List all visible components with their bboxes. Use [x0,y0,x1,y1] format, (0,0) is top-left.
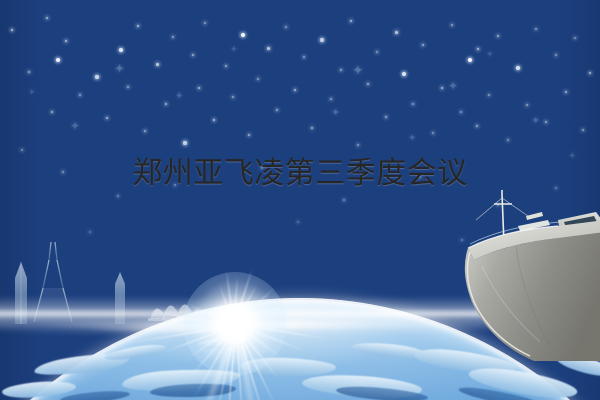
page-title: 郑州亚飞凌第三季度会议 [0,148,600,192]
conference-banner: ✦✦✦✦✦✦✦✦✦✦✦✦ [0,0,600,400]
light-burst-core [183,272,287,376]
cruise-ship [430,186,600,361]
